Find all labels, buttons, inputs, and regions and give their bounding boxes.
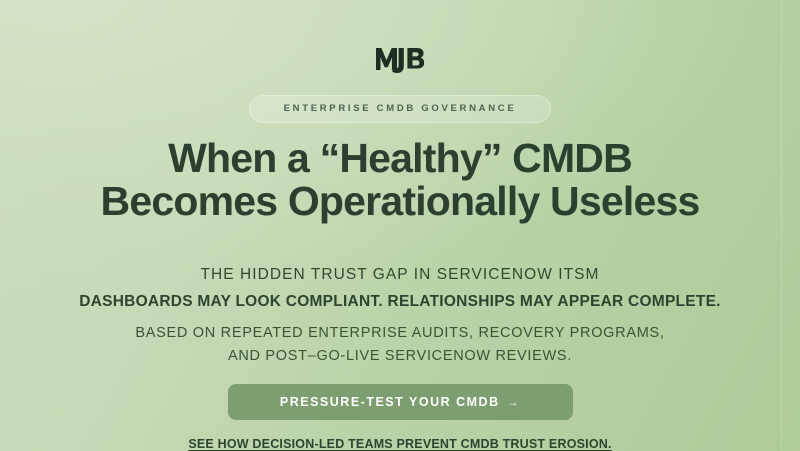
subheading-source: BASED ON REPEATED ENTERPRISE AUDITS, REC… [79, 322, 720, 367]
subheading-source-line-1: BASED ON REPEATED ENTERPRISE AUDITS, REC… [79, 322, 720, 344]
trust-erosion-link[interactable]: SEE HOW DECISION-LED TEAMS PREVENT CMDB … [188, 437, 611, 451]
pressure-test-cmdb-button[interactable]: PRESSURE-TEST YOUR CMDB → [228, 384, 573, 420]
subheading-emphasis: DASHBOARDS MAY LOOK COMPLIANT. RELATIONS… [79, 291, 720, 313]
eyebrow-badge-label: ENTERPRISE CMDB GOVERNANCE [284, 103, 517, 114]
page-title: When a “Healthy” CMDB Becomes Operationa… [101, 137, 700, 223]
subheading-source-line-2: AND POST–GO-LIVE SERVICENOW REVIEWS. [79, 345, 720, 367]
eyebrow-badge: ENTERPRISE CMDB GOVERNANCE [249, 95, 552, 123]
subheading-group: THE HIDDEN TRUST GAP IN SERVICENOW ITSM … [79, 264, 720, 367]
arrow-right-icon: → [507, 396, 521, 408]
page-title-line-2: Becomes Operationally Useless [101, 180, 700, 223]
mjb-monogram-icon [376, 46, 424, 76]
page-title-line-1: When a “Healthy” CMDB [101, 137, 700, 180]
pressure-test-cmdb-button-label: PRESSURE-TEST YOUR CMDB [280, 395, 500, 409]
brand-logo[interactable] [376, 44, 424, 78]
hero-section: ENTERPRISE CMDB GOVERNANCE When a “Healt… [0, 0, 800, 451]
subheading-primary: THE HIDDEN TRUST GAP IN SERVICENOW ITSM [79, 264, 720, 286]
